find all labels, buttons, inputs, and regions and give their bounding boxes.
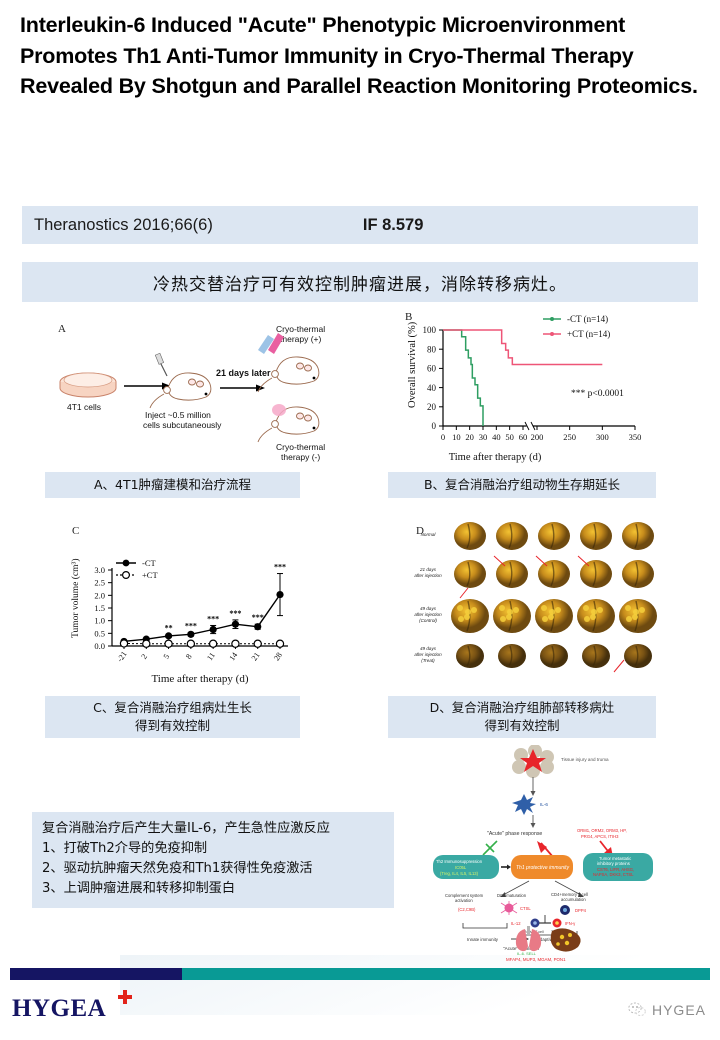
svg-text:3.0: 3.0 <box>94 565 105 575</box>
svg-text:DPP4: DPP4 <box>575 908 587 913</box>
caption-d-line1: D、复合消融治疗组肺部转移病灶 <box>430 699 615 717</box>
svg-text:Cryo-thermal: Cryo-thermal <box>276 324 325 334</box>
svg-text:Overall survival (%): Overall survival (%) <box>407 321 418 408</box>
svg-text:IL-6: IL-6 <box>540 802 548 807</box>
svg-text:*** p<0.0001: *** p<0.0001 <box>571 389 624 399</box>
svg-text:accumulation: accumulation <box>561 897 586 902</box>
caption-box-a: A、4T1肿瘤建模和治疗流程 <box>45 472 300 498</box>
svg-text:8: 8 <box>184 652 194 660</box>
svg-text:49 days: 49 days <box>420 646 437 651</box>
subtitle-bar: 冷热交替治疗可有效控制肿瘤进展，消除转移病灶。 <box>22 262 698 302</box>
svg-text:CTSL: CTSL <box>520 906 531 911</box>
panel-b-label: B <box>405 311 412 323</box>
svg-text:5: 5 <box>162 652 172 660</box>
svg-text:***: *** <box>185 622 197 631</box>
svg-text:-CT: -CT <box>142 558 157 568</box>
brand-logo-text: HYGEA <box>12 995 106 1023</box>
tissue-injury-icon <box>512 745 554 778</box>
summary-line-2: 2、驱动抗肿瘤天然免疫和Th1获得性免疫激活 <box>42 859 386 879</box>
medical-cross-icon <box>118 990 132 1004</box>
svg-text:49 days: 49 days <box>420 606 437 611</box>
caption-a-text: A、4T1肿瘤建模和治疗流程 <box>94 476 251 494</box>
svg-text:NAPSA, DKK3, CTSL: NAPSA, DKK3, CTSL <box>593 872 634 877</box>
wechat-label: HYGEA <box>652 1002 706 1018</box>
svg-text:(Control): (Control) <box>419 618 437 623</box>
svg-text:Cryo-thermal: Cryo-thermal <box>276 442 325 452</box>
svg-text:ORM1, ORM2, ORM3, HP,: ORM1, ORM2, ORM3, HP, <box>577 828 627 833</box>
caption-c-line1: C、复合消融治疗组病灶生长 <box>93 699 252 717</box>
svg-text:20: 20 <box>465 432 474 442</box>
svg-text:21 days later: 21 days later <box>216 368 271 378</box>
svg-text:Time after therapy (d): Time after therapy (d) <box>151 673 248 685</box>
figure-panel-b-survival-chart: B -CT (n=14) +CT (n=14) 0204060801000102… <box>395 308 670 468</box>
svg-text:11: 11 <box>205 651 217 662</box>
svg-text:50: 50 <box>505 432 514 442</box>
panel-a-label: A <box>58 323 66 335</box>
svg-text:after injection: after injection <box>414 573 442 578</box>
svg-text:250: 250 <box>563 432 576 442</box>
svg-text:2.0: 2.0 <box>94 590 105 600</box>
caption-c-line2: 得到有效控制 <box>93 717 252 735</box>
svg-text:***: *** <box>274 563 286 572</box>
svg-text:200: 200 <box>531 432 544 442</box>
svg-text:Th1 protective immunity: Th1 protective immunity <box>516 865 570 871</box>
journal-impact-factor: IF 8.579 <box>363 216 424 235</box>
svg-text:0.5: 0.5 <box>94 628 105 638</box>
svg-text:IC05L: IC05L <box>455 865 467 870</box>
svg-text:therapy (-): therapy (-) <box>281 452 320 462</box>
summary-box: 复合消融治疗后产生大量IL-6，产生急性应激反应 1、打破Th2介导的免疫抑制 … <box>32 812 394 908</box>
svg-text:80: 80 <box>427 344 437 354</box>
svg-text:4T1 cells: 4T1 cells <box>67 402 101 412</box>
svg-text:1.5: 1.5 <box>94 603 105 613</box>
svg-text:Tissue injury and truma: Tissue injury and truma <box>561 757 609 762</box>
svg-text:MFAP4, MUP3, MGAM, PON1: MFAP4, MUP3, MGAM, PON1 <box>506 957 566 962</box>
caption-b-text: B、复合消融治疗组动物生存期延长 <box>424 476 620 494</box>
summary-line-3: 3、上调肿瘤进展和转移抑制蛋白 <box>42 879 386 899</box>
caption-d-line2: 得到有效控制 <box>430 717 615 735</box>
t-cell-icon <box>560 905 570 915</box>
svg-text:**: ** <box>165 623 173 632</box>
svg-text:activation: activation <box>455 898 473 903</box>
il6-icon <box>512 794 536 815</box>
svg-text:-CT (n=14): -CT (n=14) <box>567 314 608 324</box>
svg-text:350: 350 <box>629 432 642 442</box>
svg-text:DCs maturation: DCs maturation <box>497 893 527 898</box>
svg-text:14: 14 <box>227 651 239 663</box>
journal-bar: Theranostics 2016;66(6) IF 8.579 <box>22 206 698 244</box>
summary-line-1: 1、打破Th2介导的免疫抑制 <box>42 839 386 859</box>
svg-text:therapy (+): therapy (+) <box>280 334 322 344</box>
svg-text:Th2 Immunosuppression: Th2 Immunosuppression <box>436 859 483 864</box>
svg-text:21 days: 21 days <box>419 567 437 572</box>
page-title: Interleukin-6 Induced "Acute" Phenotypic… <box>20 10 700 102</box>
footer-bar-left <box>10 968 182 980</box>
caption-box-b: B、复合消融治疗组动物生存期延长 <box>388 472 656 498</box>
svg-text:"Acute" phase response: "Acute" phase response <box>487 831 542 837</box>
svg-text:21: 21 <box>250 651 262 663</box>
summary-line-0: 复合消融治疗后产生大量IL-6，产生急性应激反应 <box>42 819 386 839</box>
svg-text:(Treg, IL4, IL5, IL13): (Treg, IL4, IL5, IL13) <box>440 871 479 876</box>
figure-panel-d-lung-images: D Normal21 daysafter injection49 daysaft… <box>378 520 668 688</box>
figure-panel-a: A 4T1 cells Inject ~0.5 million cells su… <box>40 310 350 465</box>
svg-text:Inject ~0.5 million: Inject ~0.5 million <box>145 410 211 420</box>
svg-text:***: *** <box>252 613 264 622</box>
liver-icon <box>551 928 581 951</box>
dc-cell-icon <box>501 901 517 915</box>
svg-text:cells subcutaneously: cells subcutaneously <box>143 420 222 430</box>
svg-text:40: 40 <box>492 432 501 442</box>
panel-b-legend: -CT (n=14) +CT (n=14) <box>543 314 610 339</box>
panel-c-label: C <box>72 525 79 537</box>
svg-text:0.0: 0.0 <box>94 641 105 651</box>
lung-icon <box>516 926 541 951</box>
svg-text:100: 100 <box>423 325 437 335</box>
svg-text:10: 10 <box>452 432 461 442</box>
svg-text:40: 40 <box>427 383 437 393</box>
svg-text:2: 2 <box>139 652 149 660</box>
figure-panel-c-tumor-volume-chart: C -CT +CT 0.00.51.01.52.02.53.0-21258111… <box>50 518 335 688</box>
caption-box-d: D、复合消融治疗组肺部转移病灶 得到有效控制 <box>388 696 656 738</box>
footer-bar-right <box>182 968 710 980</box>
svg-text:30: 30 <box>479 432 488 442</box>
svg-text:+CT: +CT <box>142 570 158 580</box>
svg-text:(C2,C9B): (C2,C9B) <box>458 907 476 912</box>
svg-text:300: 300 <box>596 432 609 442</box>
panel-c-legend: -CT +CT <box>116 558 158 580</box>
svg-text:***: *** <box>207 614 219 623</box>
svg-text:***: *** <box>229 609 241 618</box>
svg-text:Normal: Normal <box>421 532 437 537</box>
svg-text:-21: -21 <box>115 650 128 664</box>
wechat-icon <box>628 1002 646 1018</box>
svg-text:60: 60 <box>519 432 528 442</box>
journal-citation: Theranostics 2016;66(6) <box>34 216 213 235</box>
svg-text:PRG4, APCS, ITIH3: PRG4, APCS, ITIH3 <box>581 834 619 839</box>
svg-text:0: 0 <box>432 421 437 431</box>
figure-panel-mechanism-organs: MFAP4, MUP3, MGAM, PON1 <box>470 915 620 965</box>
svg-text:(Treat): (Treat) <box>421 658 435 663</box>
subtitle-text: 冷热交替治疗可有效控制肿瘤进展，消除转移病灶。 <box>153 270 567 295</box>
svg-text:1.0: 1.0 <box>94 616 105 626</box>
svg-text:2.5: 2.5 <box>94 578 105 588</box>
svg-text:Tumor volume (cm³): Tumor volume (cm³) <box>70 558 81 638</box>
svg-text:0: 0 <box>441 432 445 442</box>
svg-text:60: 60 <box>427 364 437 374</box>
svg-text:inhibitory proteins: inhibitory proteins <box>597 861 630 866</box>
svg-text:20: 20 <box>427 402 437 412</box>
svg-text:after injection: after injection <box>414 652 442 657</box>
svg-text:after injection: after injection <box>414 612 442 617</box>
svg-text:28: 28 <box>272 651 284 663</box>
svg-text:+CT (n=14): +CT (n=14) <box>567 329 610 339</box>
wechat-account: HYGEA <box>628 1002 706 1018</box>
caption-box-c: C、复合消融治疗组病灶生长 得到有效控制 <box>45 696 300 738</box>
svg-text:Time after therapy (d): Time after therapy (d) <box>449 452 542 463</box>
